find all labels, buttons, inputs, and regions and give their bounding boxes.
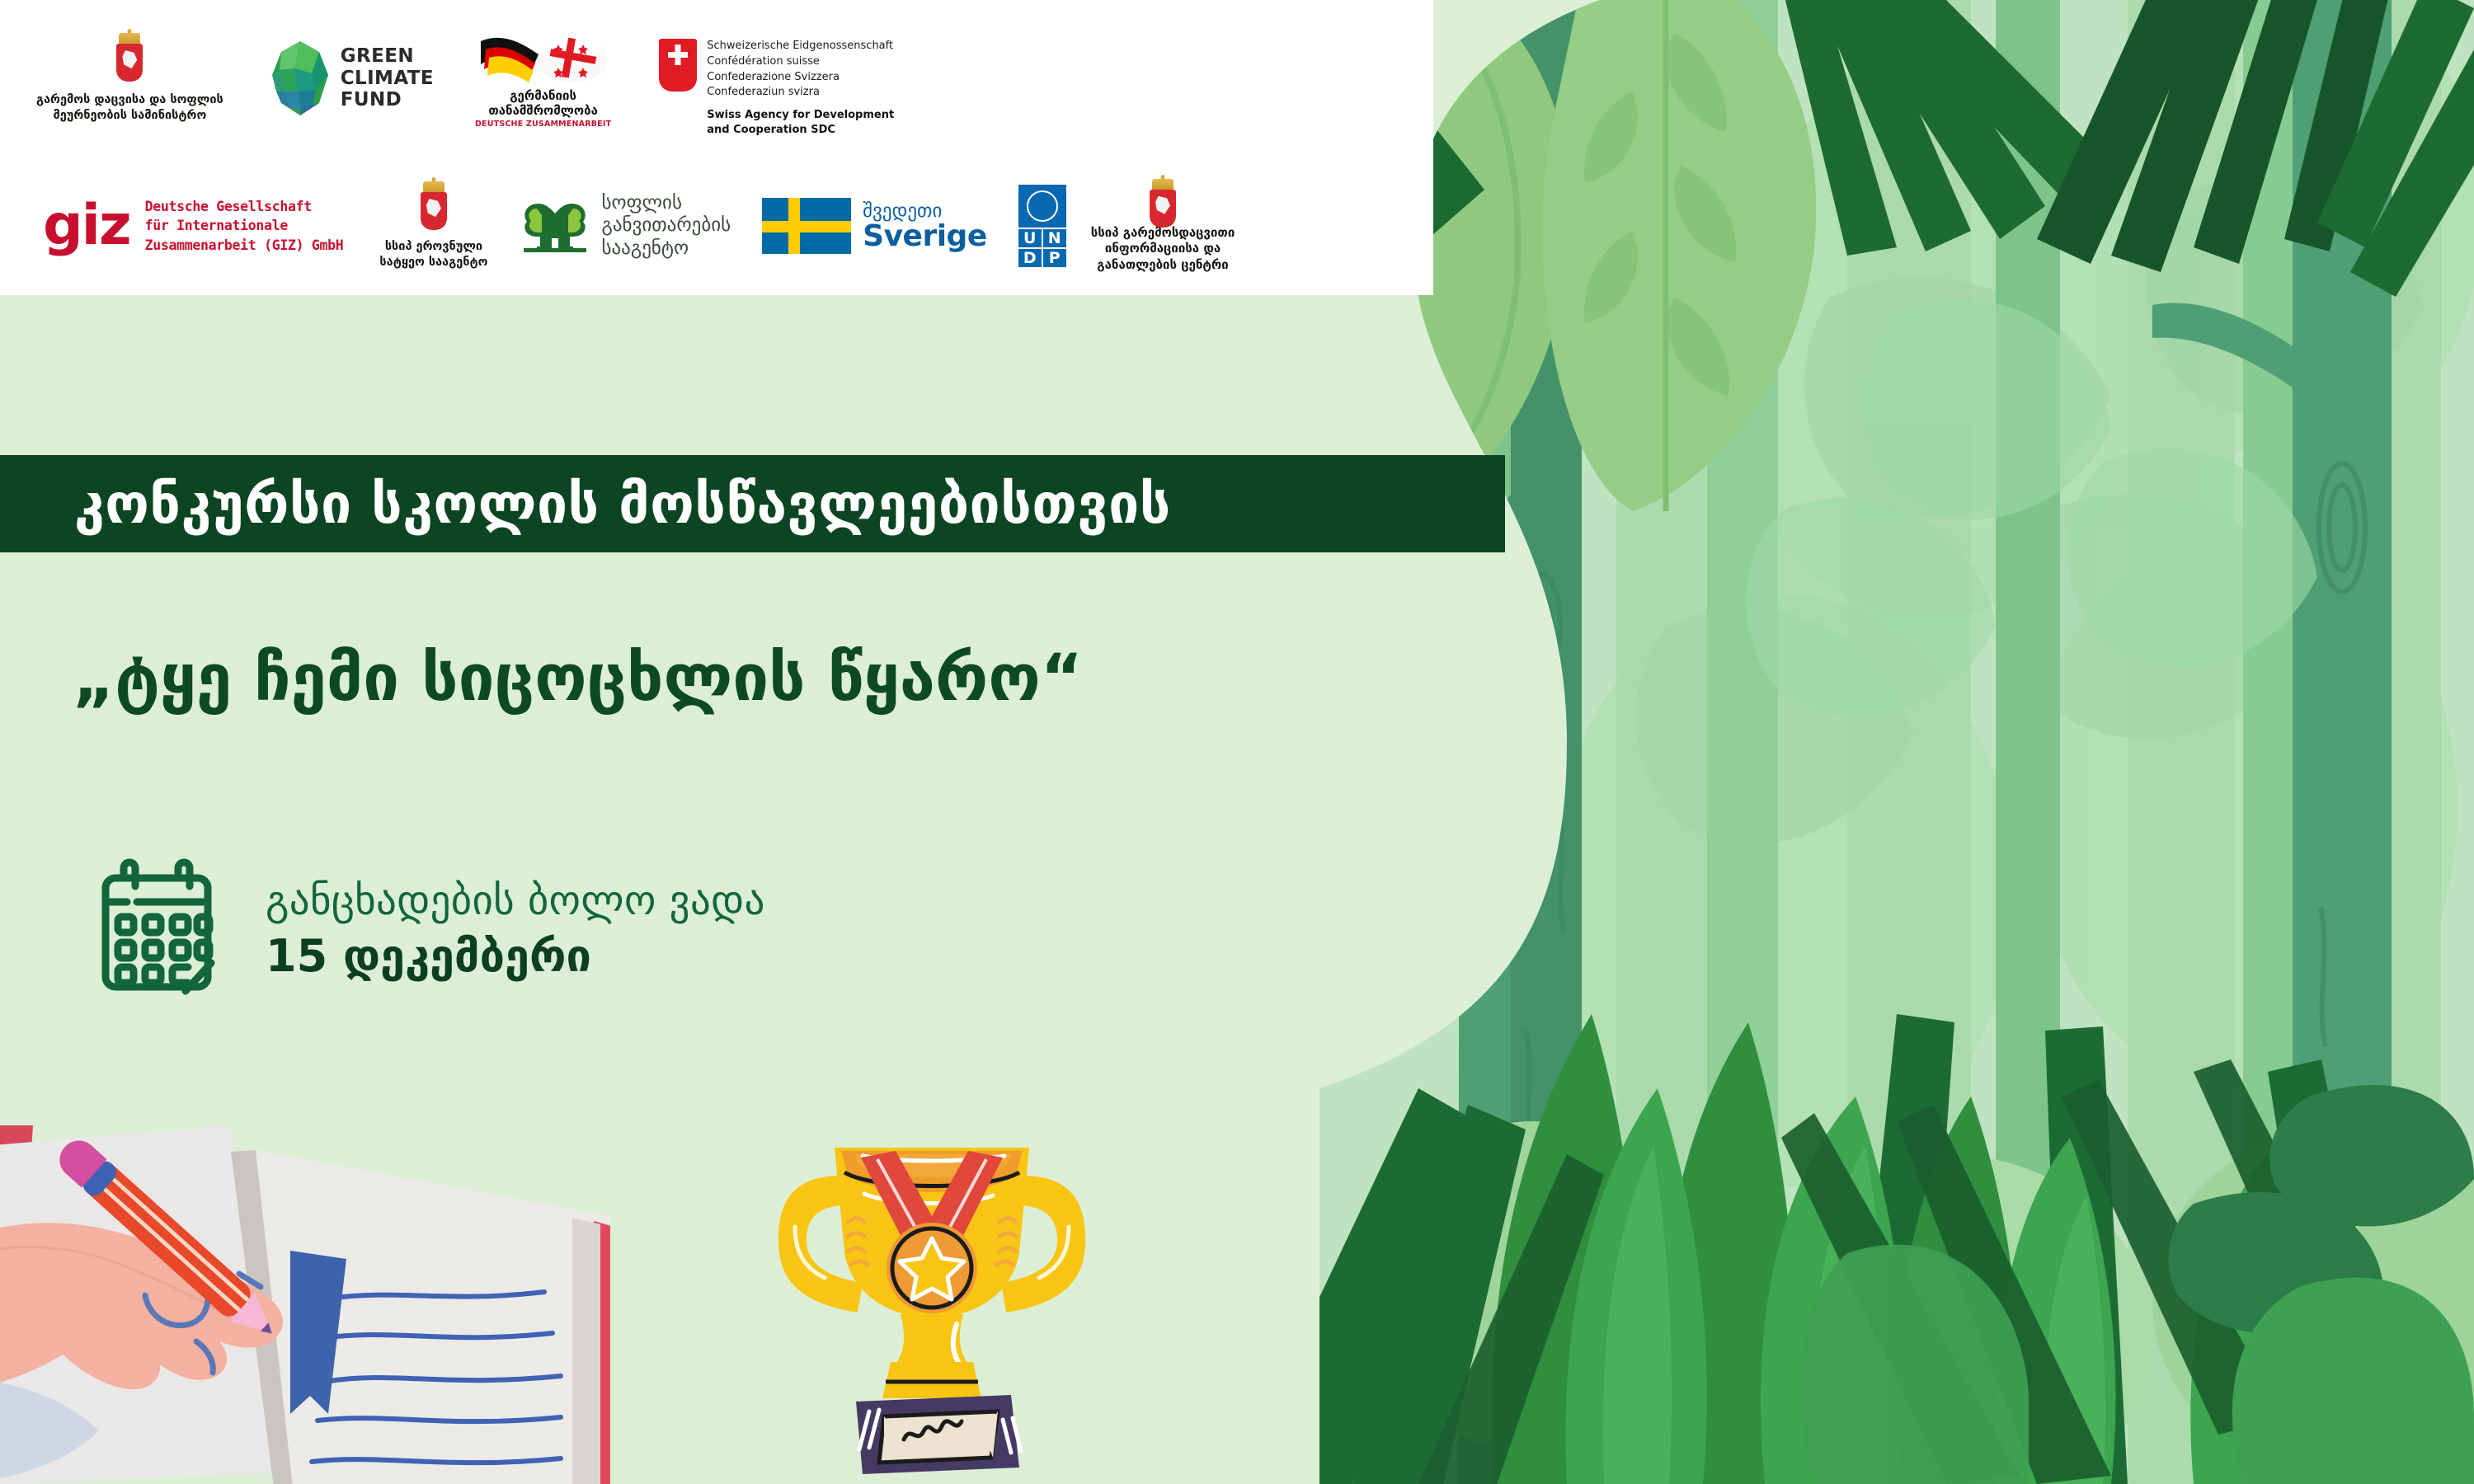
gcf-line-3: FUND xyxy=(341,89,434,111)
logo-sweden: შვედეთი Sverige xyxy=(762,198,987,254)
undp-letter-u: U xyxy=(1018,229,1042,247)
forestry-line-2: სატყეო სააგენტო xyxy=(379,255,487,270)
swiss-line-fr: Confédération suisse xyxy=(707,54,894,70)
logo-swiss-sdc: Schweizerische Eidgenossenschaft Confédé… xyxy=(659,19,894,138)
gcf-line-2: CLIMATE xyxy=(341,68,434,90)
logo-green-climate-fund: GREEN CLIMATE FUND xyxy=(270,40,434,116)
undp-letter-n: N xyxy=(1043,229,1066,247)
deadline-block: განცხადების ბოლო ვადა 15 დეკემბერი xyxy=(91,857,765,1002)
sweden-wordmark: შვედეთი Sverige xyxy=(863,200,987,251)
logo-undp: U N D P xyxy=(1018,185,1066,267)
georgian-coat-of-arms-icon xyxy=(1149,179,1177,220)
green-climate-fund-gem-icon xyxy=(270,40,331,116)
headline-banner: კონკურსი სკოლის მოსწავლეებისთვის xyxy=(0,455,1505,552)
georgian-coat-of-arms-icon xyxy=(416,181,452,234)
logo-national-forestry-agency: სსიპ ეროვნული სატყეო სააგენტო xyxy=(379,181,487,270)
logo-header: გარემოს დაცვისა და სოფლის მეურნეობის სამ… xyxy=(0,0,1433,295)
gcf-line-1: GREEN xyxy=(341,45,434,68)
logo-german-cooperation: გერმანიის თანამშრომლობა DEUTSCHE ZUSAMME… xyxy=(475,28,611,129)
forest-foliage-illustration xyxy=(1319,0,2474,1484)
germany-georgia-flag-ribbon-icon xyxy=(477,28,609,87)
rda-line-1: სოფლის xyxy=(601,192,731,214)
giz-line-2: für Internationale xyxy=(145,216,344,235)
hand-writing-in-notebook-illustration xyxy=(0,1026,610,1484)
calendar-icon xyxy=(91,857,223,1002)
swiss-multilingual-name: Schweizerische Eidgenossenschaft Confédé… xyxy=(707,39,894,101)
sweden-line-sv: Sverige xyxy=(863,222,987,251)
eiec-line-2: ინფორმაციისა და xyxy=(1091,241,1235,257)
swiss-line-rm: Confederaziun svizra xyxy=(707,85,894,101)
swiss-cross-shield-icon xyxy=(659,39,697,92)
contest-theme-subtitle: „ტყე ჩემი სიცოცხლის წყარო“ xyxy=(73,641,1083,716)
rda-line-3: სააგენტო xyxy=(601,237,731,260)
sweden-flag-icon xyxy=(762,198,851,254)
logo-ministry-of-environment: გარემოს დაცვისა და სოფლის მეურნეობის სამ… xyxy=(36,33,223,124)
logo-row-bottom: giz Deutsche Gesellschaft für Internatio… xyxy=(0,157,1433,295)
swiss-line-de: Schweizerische Eidgenossenschaft xyxy=(707,39,894,54)
logo-rural-development-agency: სოფლის განვითარების სააგენტო xyxy=(520,192,731,259)
logo-giz: giz Deutsche Gesellschaft für Internatio… xyxy=(43,197,343,255)
swiss-line-it: Confederazione Svizzera xyxy=(707,70,894,86)
rural-development-wordmark: სოფლის განვითარების სააგენტო xyxy=(601,192,731,259)
german-coop-wordmark: გერმანიის თანამშრომლობა xyxy=(488,89,598,118)
forestry-line-1: სსიპ ეროვნული xyxy=(379,239,487,255)
giz-line-1: Deutsche Gesellschaft xyxy=(145,197,344,216)
giz-line-3: Zusammenarbeit (GIZ) GmbH xyxy=(145,236,344,255)
page-title: კონკურსი სკოლის მოსწავლეებისთვის xyxy=(74,472,1171,536)
georgian-coat-of-arms-icon xyxy=(111,33,148,86)
logo-row-top: გარემოს დაცვისა და სოფლის მეურნეობის სამ… xyxy=(0,0,1072,157)
eiec-line-3: განათლების ცენტრი xyxy=(1091,257,1235,274)
swiss-agency-line-2: and Cooperation SDC xyxy=(707,123,894,138)
german-coop-line-1: გერმანიის xyxy=(488,89,598,104)
deadline-label: განცხადების ბოლო ვადა xyxy=(266,876,765,926)
undp-letter-d: D xyxy=(1018,249,1042,267)
german-coop-subtitle: DEUTSCHE ZUSAMMENARBEIT xyxy=(475,120,611,129)
poster-canvas: გარემოს დაცვისა და სოფლის მეურნეობის სამ… xyxy=(0,0,2474,1484)
undp-letter-p: P xyxy=(1043,249,1066,267)
gold-trophy-with-medal-illustration xyxy=(759,1129,1105,1484)
undp-logo-icon: U N D P xyxy=(1018,185,1066,267)
giz-wordmark-icon: giz xyxy=(43,204,130,248)
german-coop-line-2: თანამშრომლობა xyxy=(488,104,598,119)
deadline-date: 15 დეკემბერი xyxy=(266,929,765,984)
swiss-agency-name: Swiss Agency for Development and Coopera… xyxy=(707,108,894,138)
swiss-agency-line-1: Swiss Agency for Development xyxy=(707,108,894,123)
gcf-wordmark: GREEN CLIMATE FUND xyxy=(341,45,434,111)
logo-eiec: სსიპ გარემოსდაცვითი ინფორმაციისა და განა… xyxy=(1091,179,1235,274)
giz-fullname: Deutsche Gesellschaft für Internationale… xyxy=(145,197,344,255)
ministry-line-2: მეურნეობის სამინისტრო xyxy=(36,108,223,124)
two-trees-house-icon xyxy=(520,199,590,253)
deadline-text: განცხადების ბოლო ვადა 15 დეკემბერი xyxy=(266,876,765,984)
ministry-line-1: გარემოს დაცვისა და სოფლის xyxy=(36,92,223,108)
rda-line-2: განვითარების xyxy=(601,214,731,237)
undp-globe-icon xyxy=(1018,185,1066,228)
